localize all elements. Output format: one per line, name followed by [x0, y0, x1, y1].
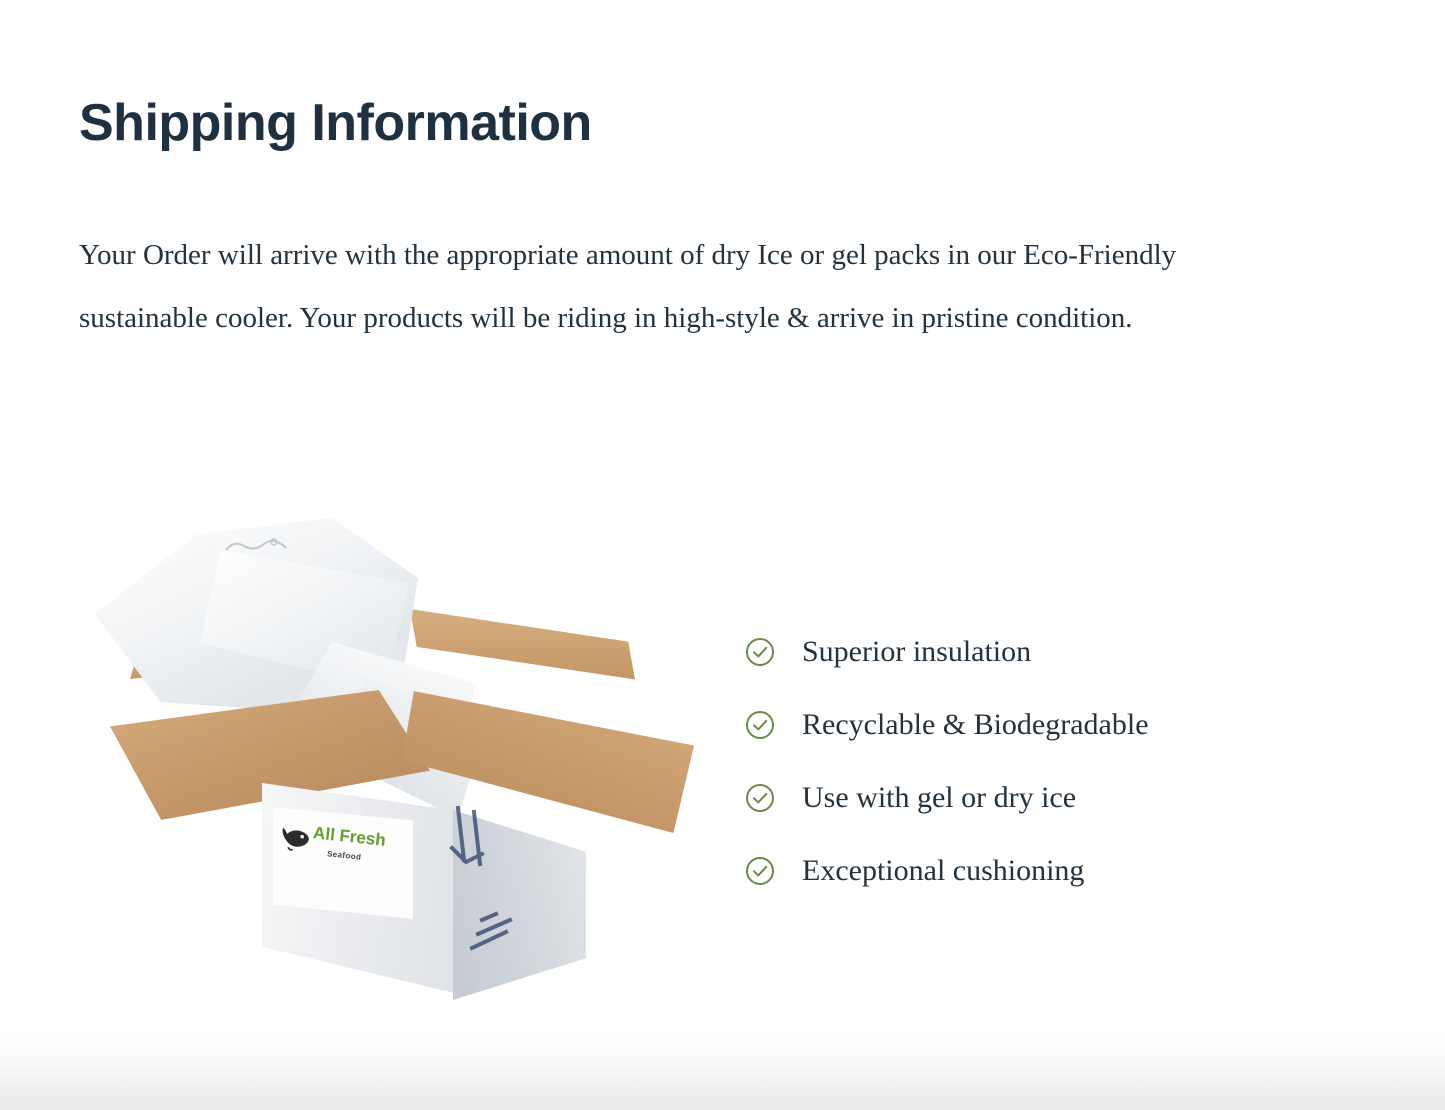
shipping-box-image: All Fresh Seafood — [80, 510, 700, 1010]
feature-list: Superior insulation Recyclable & Biodegr… — [745, 615, 1345, 907]
shipping-arrow-marks-icon — [448, 802, 558, 982]
check-circle-icon — [745, 783, 775, 813]
check-circle-icon — [745, 856, 775, 886]
fish-logo-icon — [280, 823, 313, 854]
content-row: All Fresh Seafood Superior insulation — [0, 470, 1445, 1030]
feature-label: Recyclable & Biodegradable — [802, 710, 1149, 740]
check-circle-icon — [745, 710, 775, 740]
intro-paragraph: Your Order will arrive with the appropri… — [79, 224, 1309, 350]
box-illustration: All Fresh Seafood — [80, 510, 700, 1010]
liner-print-icon — [224, 536, 288, 558]
feature-list-item: Recyclable & Biodegradable — [745, 688, 1345, 761]
feature-label: Exceptional cushioning — [802, 856, 1084, 886]
feature-label: Use with gel or dry ice — [802, 783, 1076, 813]
check-circle-icon — [745, 637, 775, 667]
box-label-subtitle: Seafood — [327, 849, 362, 862]
box-product-label: All Fresh Seafood — [273, 807, 413, 919]
box-label-brand: All Fresh — [312, 823, 386, 850]
feature-list-item: Use with gel or dry ice — [745, 761, 1345, 834]
feature-list-item: Exceptional cushioning — [745, 834, 1345, 907]
feature-label: Superior insulation — [802, 637, 1031, 667]
feature-list-item: Superior insulation — [745, 615, 1345, 688]
shipping-information-section: Shipping Information Your Order will arr… — [0, 0, 1445, 1110]
page-title: Shipping Information — [79, 93, 592, 154]
section-bottom-fade — [0, 1030, 1445, 1110]
